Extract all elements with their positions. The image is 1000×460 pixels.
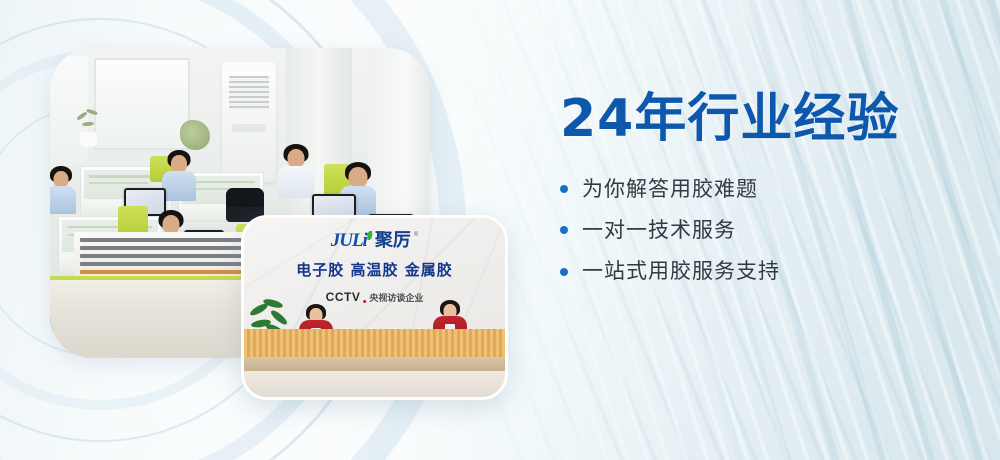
promo-banner: JULi 聚厉 ® 电子胶 高温胶 金属胶 CCTV 央视访谈企业 [0, 0, 1000, 460]
employee-figure [162, 152, 196, 200]
cctv-logo-text: CCTV [326, 291, 361, 303]
reception-desk-photo: JULi 聚厉 ® 电子胶 高温胶 金属胶 CCTV 央视访谈企业 [241, 215, 508, 400]
list-item: 一站式用胶服务支持 [560, 259, 980, 284]
bullet-dot-icon [560, 268, 568, 276]
office-plant [74, 108, 104, 148]
bullet-dot-icon [560, 226, 568, 234]
employee-figure [278, 146, 314, 198]
list-item-label: 一站式用胶服务支持 [582, 259, 780, 284]
banner-text-column: 24年行业经验 为你解答用胶难题 一对一技术服务 一站式用胶服务支持 [560, 92, 980, 300]
logo-chinese-text: 聚厉 [375, 232, 411, 250]
bullet-dot-icon [560, 185, 568, 193]
list-item-label: 一对一技术服务 [582, 218, 736, 243]
office-plant-secondary [180, 120, 210, 150]
air-conditioner-icon [222, 62, 276, 182]
cctv-endorsement-badge: CCTV 央视访谈企业 [326, 291, 424, 304]
logo-sprout-icon [367, 231, 372, 240]
reception-counter [244, 329, 505, 397]
list-item: 为你解答用胶难题 [560, 177, 980, 202]
feature-list: 为你解答用胶难题 一对一技术服务 一站式用胶服务支持 [560, 177, 980, 285]
document-shelf [74, 232, 254, 280]
page-title: 24年行业经验 [560, 92, 980, 147]
list-item-label: 为你解答用胶难题 [582, 177, 758, 202]
cctv-suffix-text: 央视访谈企业 [369, 295, 423, 304]
company-logo: JULi 聚厉 ® [331, 231, 419, 250]
employee-figure [50, 168, 76, 214]
list-item: 一对一技术服务 [560, 218, 980, 243]
wall-product-list: 电子胶 高温胶 金属胶 [296, 263, 452, 278]
logo-latin-text: JULi [331, 231, 367, 250]
office-window [94, 58, 190, 150]
cctv-red-dot-icon [363, 300, 366, 303]
registered-trademark-icon: ® [414, 232, 418, 238]
